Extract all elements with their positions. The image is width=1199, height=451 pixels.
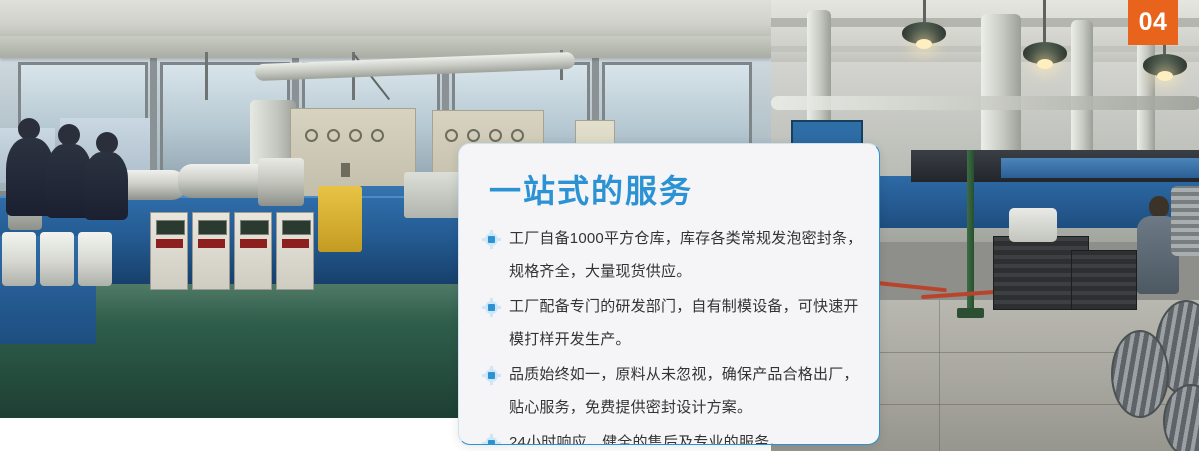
white-container	[1009, 208, 1057, 242]
controller-box	[276, 212, 314, 290]
panel-knob	[349, 129, 362, 142]
product-roll	[1171, 186, 1199, 256]
lamp-rod	[1043, 0, 1046, 44]
pipe-base	[957, 308, 984, 318]
ceiling	[0, 0, 771, 40]
machine-rail	[1001, 158, 1199, 178]
panel-knob	[305, 129, 318, 142]
ventilation-duct	[1137, 24, 1155, 164]
pendant-lamp	[1023, 42, 1067, 64]
ceiling-beam	[0, 36, 771, 58]
step-number-label: 04	[1139, 10, 1168, 35]
service-info-card: 一站式的服务 工厂自备1000平方仓库，库存各类常规发泡密封条，规格齐全，大量现…	[458, 143, 880, 445]
worker-head	[96, 132, 118, 154]
panel-knob	[327, 129, 340, 142]
product-drum	[2, 232, 36, 286]
service-feature-list: 工厂自备1000平方仓库，库存各类常规发泡密封条，规格齐全，大量现货供应。 工厂…	[485, 222, 863, 445]
controller-box	[234, 212, 272, 290]
list-item-text: 24小时响应，健全的售后及专业的服务。	[509, 434, 785, 445]
card-title: 一站式的服务	[489, 166, 693, 212]
support-pipe	[967, 150, 974, 312]
pendant-lamp	[902, 22, 946, 44]
list-item-text: 品质始终如一，原料从未忽视，确保产品合格出厂，贴心服务，免费提供密封设计方案。	[509, 366, 859, 416]
controller-readout	[156, 239, 183, 248]
list-item-text: 工厂自备1000平方仓库，库存各类常规发泡密封条，规格齐全，大量现货供应。	[509, 230, 862, 280]
extruder-head	[258, 158, 304, 206]
worker-head	[58, 124, 80, 146]
target-marker-icon	[485, 301, 498, 314]
controller-readout	[282, 239, 309, 248]
target-marker-icon	[485, 437, 498, 445]
controller-readout	[240, 239, 267, 248]
hanger-rod	[205, 52, 208, 100]
lamp-rod	[923, 0, 926, 24]
list-item: 工厂自备1000平方仓库，库存各类常规发泡密封条，规格齐全，大量现货供应。	[485, 222, 863, 288]
list-item: 24小时响应，健全的售后及专业的服务。	[485, 426, 863, 445]
controller-display	[240, 220, 269, 235]
pendant-lamp	[1143, 54, 1187, 76]
panel-knob	[511, 129, 524, 142]
worker-head	[1149, 196, 1169, 218]
target-marker-icon	[485, 233, 498, 246]
target-marker-icon	[485, 369, 498, 382]
list-item-text: 工厂配备专门的研发部门，自有制模设备，可快速开模打样开发生产。	[509, 298, 859, 348]
product-drum	[40, 232, 74, 286]
floor-seam	[939, 300, 940, 451]
step-number-badge: 04	[1128, 0, 1178, 45]
worker-head	[18, 118, 40, 140]
controller-readout	[198, 239, 225, 248]
promo-banner: 04 一站式的服务 工厂自备1000平方仓库，库存各类常规发泡密封条，规格齐全，…	[0, 0, 1199, 451]
worker-figure	[84, 152, 128, 220]
steel-coil	[1111, 330, 1169, 418]
panel-knob	[371, 129, 384, 142]
controller-display	[156, 220, 185, 235]
controller-box	[150, 212, 188, 290]
panel-knob	[489, 129, 502, 142]
controller-box	[192, 212, 230, 290]
controller-display	[198, 220, 227, 235]
ventilation-duct-horizontal	[771, 96, 1199, 110]
product-drum	[78, 232, 112, 286]
storage-crate	[1071, 250, 1137, 310]
yellow-machine-guard	[318, 186, 362, 252]
ventilation-duct	[1071, 20, 1093, 170]
controller-display	[282, 220, 311, 235]
panel-knob	[467, 129, 480, 142]
list-item: 品质始终如一，原料从未忽视，确保产品合格出厂，贴心服务，免费提供密封设计方案。	[485, 358, 863, 424]
panel-knob	[445, 129, 458, 142]
list-item: 工厂配备专门的研发部门，自有制模设备，可快速开模打样开发生产。	[485, 290, 863, 356]
panel-switch	[341, 163, 350, 177]
